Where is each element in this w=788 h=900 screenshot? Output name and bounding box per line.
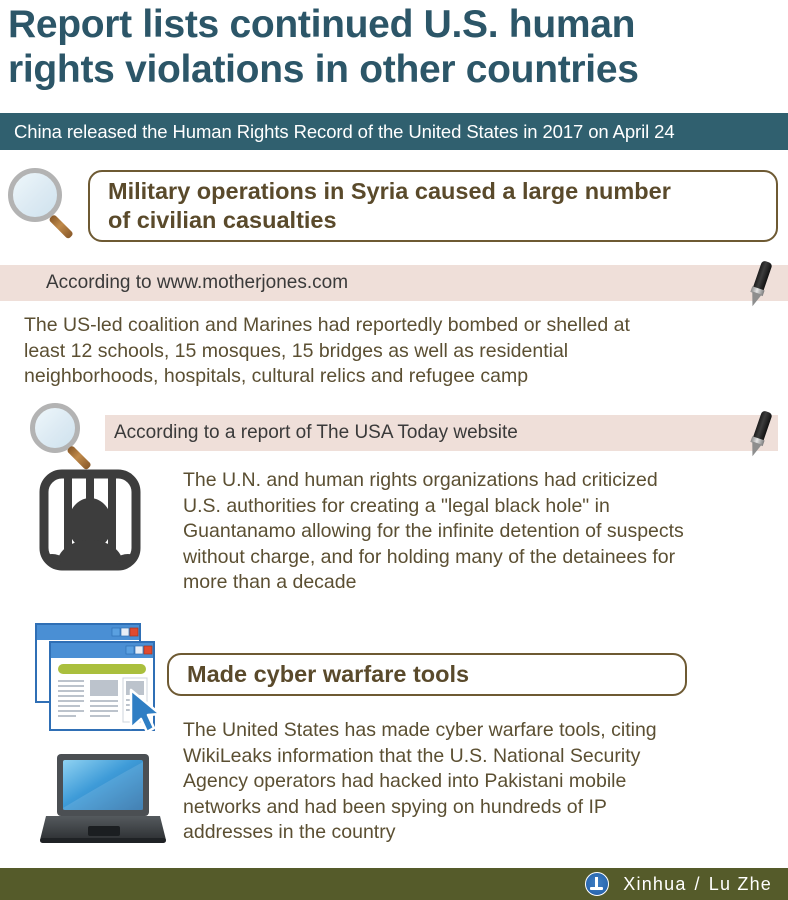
magnifier-icon	[6, 168, 80, 246]
footer-separator: /	[687, 874, 709, 894]
source-bar-motherjones: According to www.motherjones.com	[0, 265, 788, 301]
section-body-syria: The US-led coalition and Marines had rep…	[24, 313, 774, 390]
source-label-usatoday: According to a report of The USA Today w…	[105, 422, 518, 444]
body-line: neighborhoods, hospitals, cultural relic…	[24, 365, 528, 387]
xinhua-logo-icon	[585, 872, 609, 896]
section-body-cyber: The United States has made cyber warfare…	[183, 718, 783, 846]
footer-author: Lu Zhe	[709, 874, 772, 894]
section-heading-box-syria: Military operations in Syria caused a la…	[88, 170, 778, 242]
body-line: WikiLeaks information that the U.S. Nati…	[183, 745, 640, 767]
section-heading-syria-line1: Military operations in Syria caused a la…	[108, 178, 671, 204]
body-line: Agency operators had hacked into Pakista…	[183, 770, 626, 792]
footer-agency: Xinhua	[623, 874, 686, 894]
jail-cell-icon	[38, 468, 142, 572]
body-line: Guantanamo allowing for the infinite det…	[183, 520, 684, 542]
body-line: addresses in the country	[183, 821, 395, 843]
magnifier-handle	[66, 445, 91, 470]
body-line: without charge, and for holding many of …	[183, 546, 675, 568]
footer-bar: Xinhua/Lu Zhe	[0, 868, 788, 900]
body-line: The US-led coalition and Marines had rep…	[24, 314, 630, 336]
laptop-svg	[40, 750, 166, 848]
page-title: Report lists continued U.S. human rights…	[8, 2, 783, 92]
page-title-line2: rights violations in other countries	[8, 47, 783, 92]
pen-icon	[742, 258, 772, 310]
page-title-line1: Report lists continued U.S. human	[8, 3, 635, 46]
body-line: networks and had been spying on hundreds…	[183, 796, 607, 818]
browser-windows-svg	[28, 620, 178, 738]
subtitle-bar: China released the Human Rights Record o…	[0, 113, 788, 150]
source-label-motherjones: According to www.motherjones.com	[0, 272, 348, 294]
infographic-page: Report lists continued U.S. human rights…	[0, 0, 788, 900]
body-line: U.S. authorities for creating a "legal b…	[183, 495, 610, 517]
section-heading-box-cyber: Made cyber warfare tools	[167, 653, 687, 696]
pen-tip	[748, 291, 762, 307]
browser-windows-icon	[28, 620, 178, 738]
body-line: more than a decade	[183, 571, 356, 593]
body-line: The United States has made cyber warfare…	[183, 719, 657, 741]
pen-tip	[748, 441, 762, 457]
subtitle-text: China released the Human Rights Record o…	[0, 121, 675, 143]
pen-icon	[742, 408, 772, 460]
laptop-icon	[40, 750, 166, 848]
section-heading-syria: Military operations in Syria caused a la…	[90, 177, 671, 235]
section-body-guantanamo: The U.N. and human rights organizations …	[183, 468, 783, 596]
footer-credit: Xinhua/Lu Zhe	[623, 874, 772, 895]
source-bar-usatoday: According to a report of The USA Today w…	[105, 415, 778, 451]
body-line: least 12 schools, 15 mosques, 15 bridges…	[24, 340, 568, 362]
magnifier-handle	[48, 214, 73, 239]
section-heading-syria-line2: of civilian casualties	[108, 207, 337, 233]
body-line: The U.N. and human rights organizations …	[183, 469, 658, 491]
jail-cell-svg	[38, 468, 142, 572]
section-heading-cyber: Made cyber warfare tools	[169, 661, 469, 688]
